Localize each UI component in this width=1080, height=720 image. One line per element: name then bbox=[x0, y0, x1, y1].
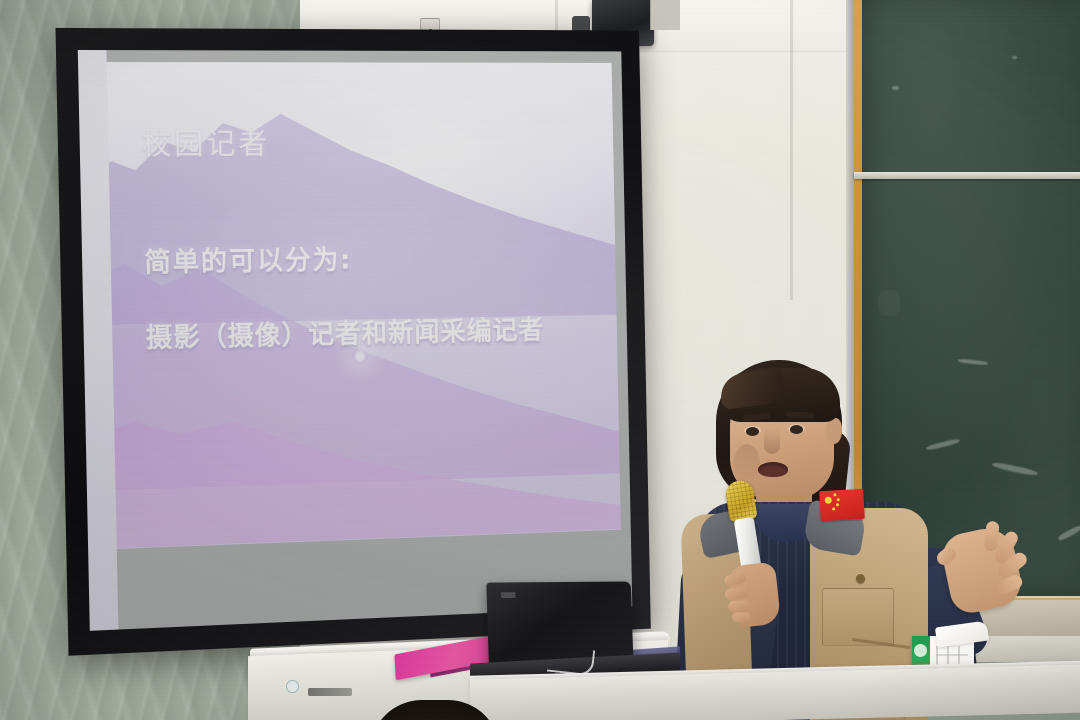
slide-body-line-2: 摄影（摄像）记者和新闻采编记者 bbox=[145, 309, 544, 355]
tissue-box-logo-icon bbox=[914, 644, 927, 657]
laptop-cable bbox=[547, 646, 595, 677]
presenter-eye-left bbox=[746, 427, 759, 436]
laptop-logo-icon bbox=[501, 592, 516, 598]
slide-text-layer: 校园记者 简单的可以分为: 摄影（摄像）记者和新闻采编记者 bbox=[78, 50, 633, 631]
presenter-mouth bbox=[758, 462, 788, 477]
presenter-vest-pocket-upper bbox=[822, 588, 894, 646]
presenter-vest-button bbox=[856, 574, 865, 583]
presenter-cheek-shadow bbox=[734, 444, 760, 482]
wall-seam bbox=[790, 0, 793, 300]
presenter-hand-holding-mic bbox=[727, 562, 781, 629]
presenter-ear bbox=[826, 418, 842, 444]
projection-screen-surface: 校园记者 简单的可以分为: 摄影（摄像）记者和新闻采编记者 bbox=[78, 50, 633, 631]
blackboard-divider-rail bbox=[854, 172, 1080, 179]
projection-screen-frame: 校园记者 简单的可以分为: 摄影（摄像）记者和新闻采编记者 bbox=[55, 28, 650, 656]
microphone-head bbox=[724, 479, 758, 523]
classroom-photo-scene: 校园记者 简单的可以分为: 摄影（摄像）记者和新闻采编记者 bbox=[0, 0, 1080, 720]
podium-indicator bbox=[286, 680, 299, 693]
slide-title: 校园记者 bbox=[141, 119, 270, 163]
podium-label-plate bbox=[308, 688, 352, 696]
slide-body-line-1: 简单的可以分为: bbox=[144, 238, 353, 279]
presenter-eye-right bbox=[790, 425, 803, 434]
wall-fixture bbox=[650, 0, 680, 30]
chinese-flag-patch bbox=[819, 489, 865, 521]
presenter-nose bbox=[764, 428, 780, 454]
